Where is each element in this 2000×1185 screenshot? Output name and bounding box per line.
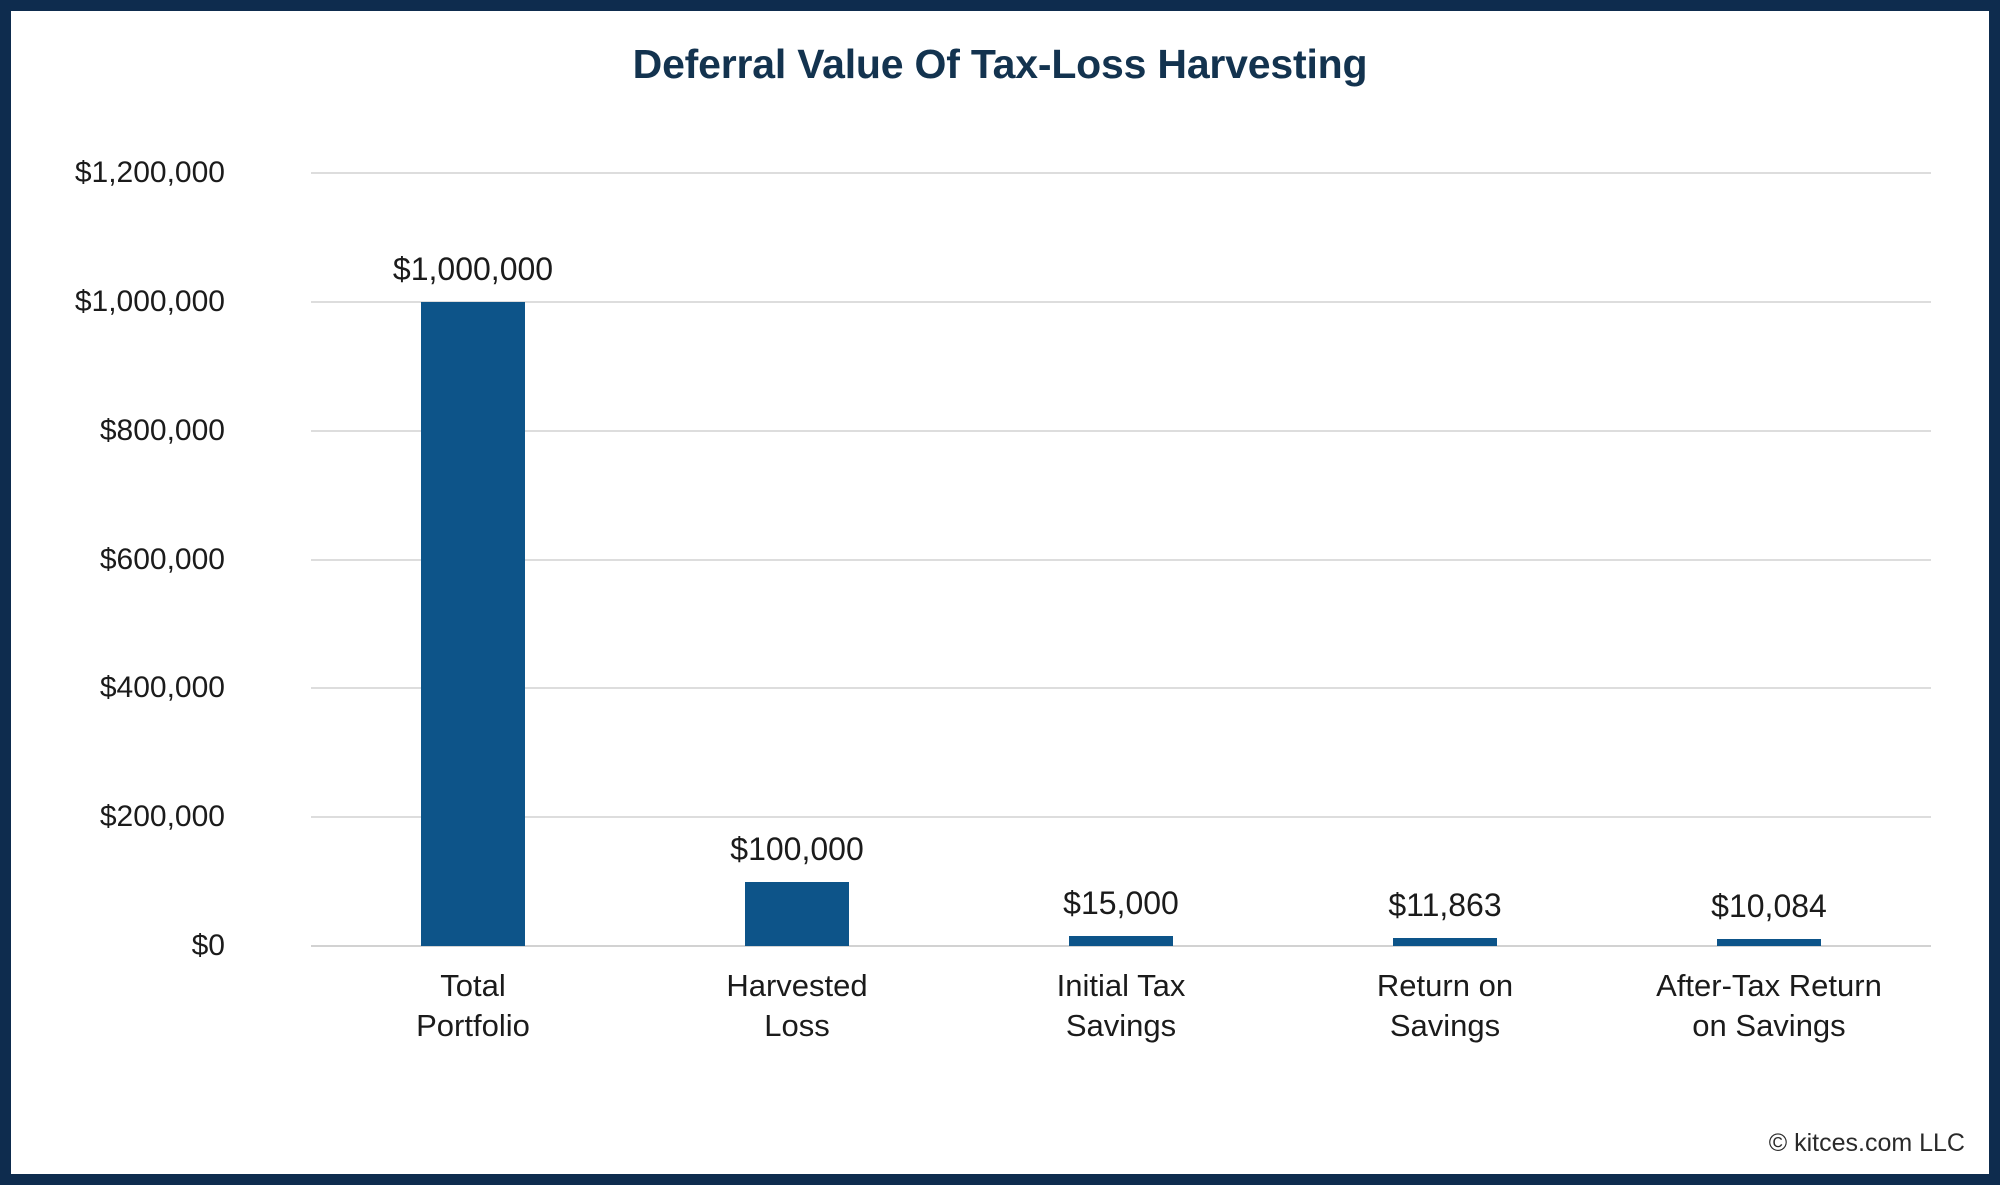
bar-value-label: $15,000 [1063,885,1179,922]
x-axis-category-line: Loss [617,1006,977,1046]
x-axis-category-line: Portfolio [293,1006,653,1046]
plot-area: $0$200,000$400,000$600,000$800,000$1,000… [311,173,1931,946]
x-axis-category-line: Return on [1265,966,1625,1006]
bar[interactable] [745,882,849,946]
bar-slot: $10,084 [1607,173,1931,946]
chart-canvas: Deferral Value Of Tax-Loss Harvesting $0… [11,11,1989,1174]
bar-slot: $11,863 [1283,173,1607,946]
x-axis-category-label: TotalPortfolio [293,966,653,1045]
x-axis-category-line: Savings [1265,1006,1625,1046]
bar[interactable] [1717,939,1821,946]
y-axis-tick-label: $200,000 [0,800,225,834]
x-axis-category-label: Return onSavings [1265,966,1625,1045]
y-axis-tick-label: $1,200,000 [0,156,225,190]
bar-slot: $15,000 [959,173,1283,946]
bar[interactable] [1393,938,1497,946]
bar[interactable] [1069,936,1173,946]
x-axis-category-line: Harvested [617,966,977,1006]
bar-slot: $1,000,000 [311,173,635,946]
y-axis-tick-label: $800,000 [0,414,225,448]
y-axis-tick-label: $400,000 [0,671,225,705]
footer-credit: © kitces.com LLC [1769,1129,1965,1158]
bar[interactable] [421,302,525,946]
x-axis-category-label: Initial TaxSavings [941,966,1301,1045]
x-axis-category-line: Savings [941,1006,1301,1046]
x-axis-category-line: Initial Tax [941,966,1301,1006]
x-axis-category-line: After-Tax Return [1589,966,1949,1006]
bar-value-label: $11,863 [1388,887,1501,924]
y-axis-tick-label: $600,000 [0,543,225,577]
bar-slot: $100,000 [635,173,959,946]
page-title: Deferral Value Of Tax-Loss Harvesting [11,41,1989,88]
x-axis-category-label: After-Tax Returnon Savings [1589,966,1949,1045]
y-axis-tick-label: $0 [0,929,225,963]
bar-value-label: $10,084 [1711,888,1827,925]
x-axis-category-line: Total [293,966,653,1006]
chart-frame: Deferral Value Of Tax-Loss Harvesting $0… [0,0,2000,1185]
x-axis-category-line: on Savings [1589,1006,1949,1046]
y-axis-tick-label: $1,000,000 [0,285,225,319]
x-axis-category-label: HarvestedLoss [617,966,977,1045]
bar-value-label: $100,000 [730,831,863,868]
bar-value-label: $1,000,000 [393,251,553,288]
